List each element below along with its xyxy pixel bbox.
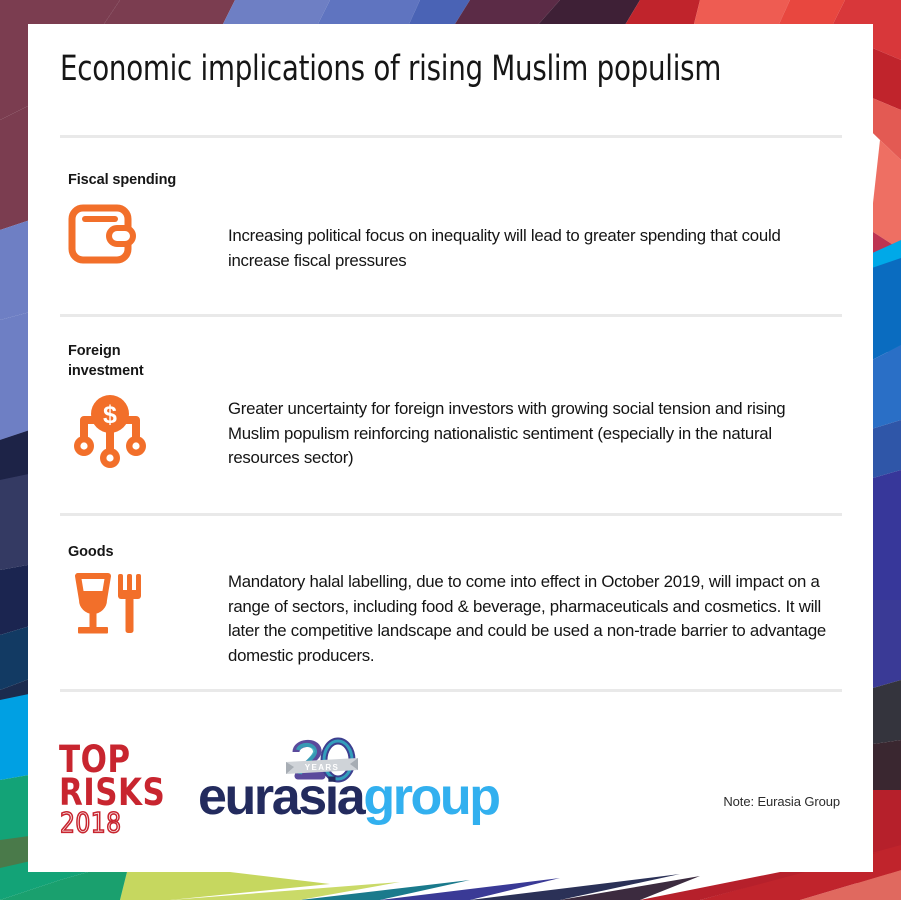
eurasia-word: eurasia — [198, 768, 363, 826]
glass-fork-icon — [70, 566, 150, 646]
divider-1 — [60, 314, 842, 317]
wallet-icon — [68, 202, 138, 266]
top-risks-year: 2018 — [60, 809, 121, 837]
infographic-canvas: Economic implications of rising Muslim p… — [0, 0, 901, 900]
section-body-foreign-investment: Greater uncertainty for foreign investor… — [228, 397, 840, 471]
source-note: Note: Eurasia Group — [723, 794, 840, 809]
section-label-foreign-investment-line2: investment — [68, 361, 144, 381]
group-word: group — [363, 768, 498, 826]
svg-text:$: $ — [103, 401, 117, 429]
divider-2 — [60, 513, 842, 516]
eurasia-group-logo: YEARS eurasiagroup — [198, 736, 498, 836]
section-body-fiscal-spending: Increasing political focus on inequality… — [228, 224, 840, 273]
section-body-goods: Mandatory halal labelling, due to come i… — [228, 570, 840, 668]
section-label-fiscal-spending: Fiscal spending — [68, 170, 176, 190]
dollar-network-icon: $ — [70, 390, 150, 470]
content-card: Economic implications of rising Muslim p… — [28, 24, 873, 872]
eurasia-group-wordmark: eurasiagroup — [198, 771, 499, 823]
divider-top — [60, 135, 842, 138]
section-label-foreign-investment-line1: Foreign — [68, 341, 120, 361]
divider-bottom — [60, 689, 842, 692]
page-title: Economic implications of rising Muslim p… — [60, 49, 755, 89]
section-label-goods: Goods — [68, 542, 113, 562]
